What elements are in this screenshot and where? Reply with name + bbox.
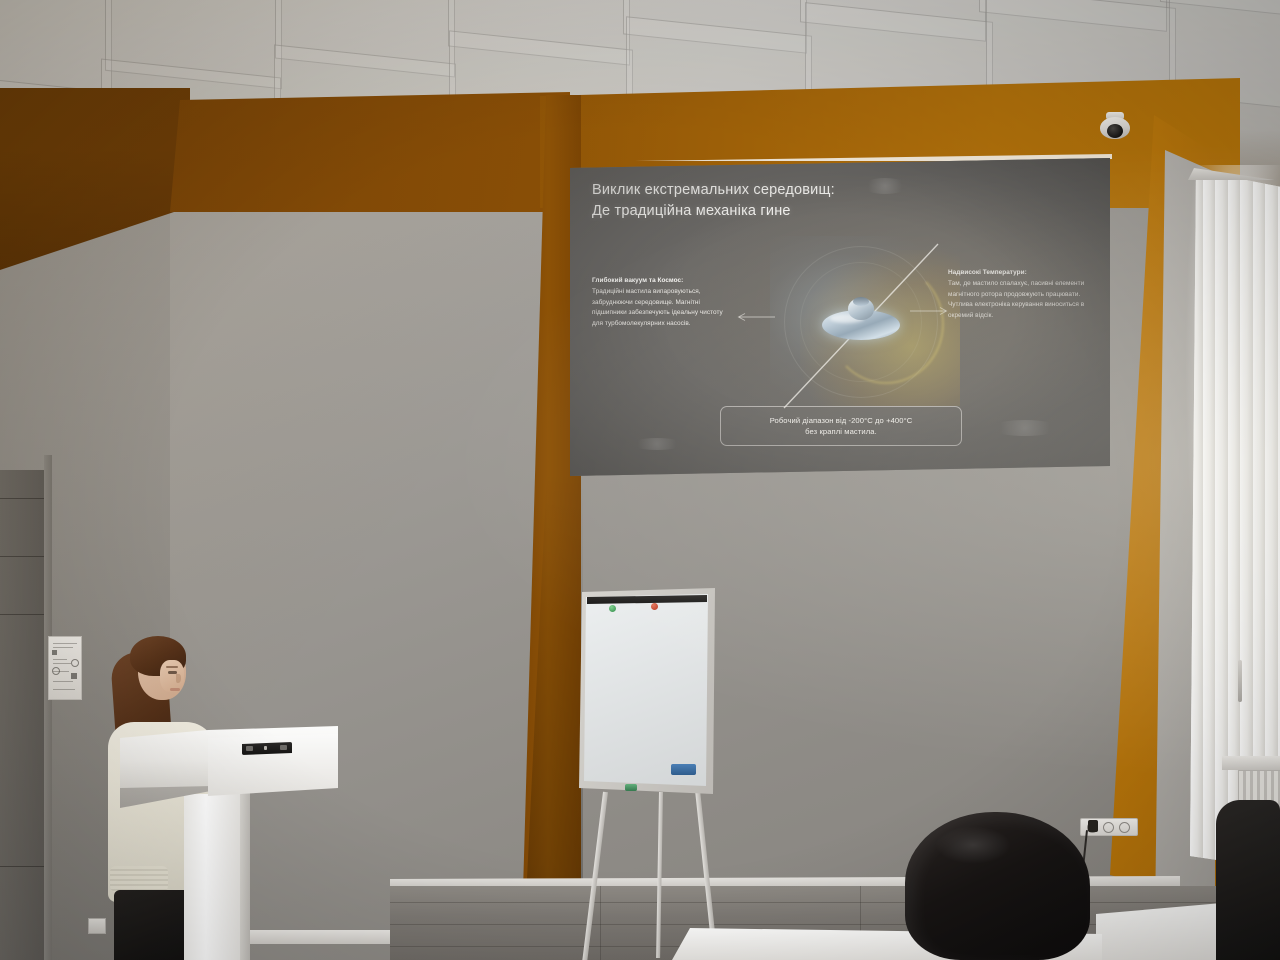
blind-control-wand[interactable]	[1238, 660, 1242, 702]
left-cabinet	[0, 470, 48, 960]
flipchart-easel[interactable]	[575, 588, 725, 960]
door-frame	[44, 455, 52, 960]
audience-member	[905, 812, 1090, 960]
podium-indicator	[264, 746, 267, 750]
whiteboard-surface[interactable]	[584, 594, 708, 788]
presenter-lips	[170, 688, 180, 691]
presentation-room-photo: Виклик екстремальних середовищ: Де тради…	[0, 0, 1280, 960]
orange-wall-header-mid	[170, 92, 570, 212]
notice-pictogram-square-1	[52, 650, 57, 655]
wall-socket-left[interactable]	[88, 918, 106, 934]
board-eraser[interactable]	[671, 764, 696, 775]
podium[interactable]	[120, 722, 338, 960]
dome-security-camera-icon	[1098, 112, 1132, 144]
presenter-brow	[166, 666, 178, 668]
marker-green-lower[interactable]	[625, 784, 637, 791]
slide-vignette	[570, 158, 1110, 476]
marker-green[interactable]	[609, 605, 616, 612]
marker-red[interactable]	[651, 603, 658, 610]
podium-button-right	[280, 745, 287, 750]
camera-lens	[1107, 124, 1123, 138]
podium-column-edge	[240, 792, 250, 960]
easel-leg-left	[582, 792, 608, 960]
safety-notice-poster	[48, 636, 82, 700]
notice-pictogram-square-2	[71, 673, 77, 679]
podium-column	[184, 794, 246, 960]
audience-hair-highlight	[935, 826, 1011, 864]
notice-prohibition-icon-1	[52, 667, 60, 675]
presenter-nose	[176, 674, 181, 683]
person-right-edge	[1216, 800, 1280, 960]
notice-prohibition-icon-2	[71, 659, 79, 667]
window-sill	[1222, 756, 1280, 770]
presentation-slide: Виклик екстремальних середовищ: Де тради…	[570, 158, 1110, 476]
projection-screen[interactable]: Виклик екстремальних середовищ: Де тради…	[570, 158, 1110, 476]
easel-leg-center	[656, 792, 663, 958]
podium-control-panel[interactable]	[242, 742, 292, 755]
podium-button-left	[246, 746, 253, 751]
